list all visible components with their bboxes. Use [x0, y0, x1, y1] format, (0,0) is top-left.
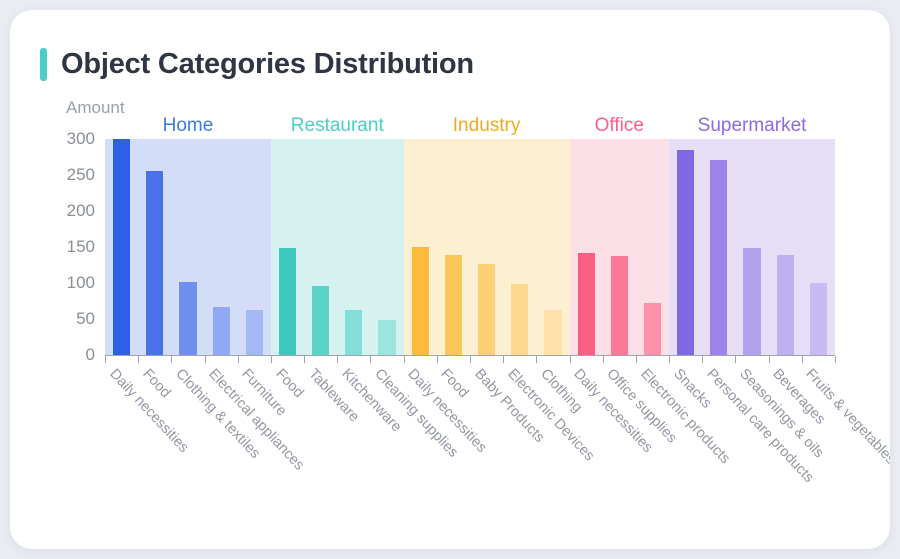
x-axis-tick-mark [404, 356, 405, 363]
bar[interactable] [777, 255, 794, 355]
x-axis-tick-mark [603, 356, 604, 363]
x-axis-tick-mark [536, 356, 537, 363]
group-label-office: Office [570, 115, 670, 137]
y-axis-tick-mark [105, 211, 111, 212]
x-axis-tick-mark [636, 356, 637, 363]
bar[interactable] [146, 171, 163, 355]
y-axis-tick-mark [105, 175, 111, 176]
x-axis-tick-mark [503, 356, 504, 363]
bar[interactable] [412, 247, 429, 355]
bar[interactable] [378, 320, 395, 355]
bar[interactable] [611, 256, 628, 355]
bar[interactable] [213, 307, 230, 355]
bar[interactable] [246, 310, 263, 355]
y-axis-tick-label: 200 [49, 201, 95, 221]
x-axis-tick-mark [669, 356, 670, 363]
x-axis-tick-mark [702, 356, 703, 363]
bar[interactable] [478, 264, 495, 355]
bar[interactable] [113, 139, 130, 355]
y-axis-tick-mark [105, 283, 111, 284]
x-axis-tick-mark [337, 356, 338, 363]
y-axis-tick-mark [105, 139, 111, 140]
bar[interactable] [710, 160, 727, 355]
group-label-supermarket: Supermarket [669, 115, 835, 137]
y-axis-tick-label: 150 [49, 237, 95, 257]
bar[interactable] [677, 150, 694, 355]
bar[interactable] [810, 283, 827, 355]
y-axis-tick-mark [105, 319, 111, 320]
y-axis-ticks: 050100150200250300 [49, 139, 95, 355]
plot-area [105, 139, 835, 355]
x-axis-tick-mark [735, 356, 736, 363]
x-axis-tick-mark [271, 356, 272, 363]
y-axis-tick-label: 0 [49, 345, 95, 365]
y-axis-tick-mark [105, 247, 111, 248]
x-axis-tick-mark [802, 356, 803, 363]
chart-card: Object Categories Distribution Amount 05… [10, 10, 890, 549]
bar[interactable] [279, 248, 296, 355]
x-axis-tick-mark [370, 356, 371, 363]
y-axis-tick-label: 300 [49, 129, 95, 149]
y-axis-tick-label: 50 [49, 309, 95, 329]
x-axis-tick-mark [570, 356, 571, 363]
x-axis-tick-mark [437, 356, 438, 363]
x-axis-tick-mark [304, 356, 305, 363]
bar[interactable] [445, 255, 462, 355]
bar[interactable] [345, 310, 362, 355]
page-title: Object Categories Distribution [61, 48, 474, 81]
bar[interactable] [743, 248, 760, 355]
x-axis-tick-mark [205, 356, 206, 363]
group-label-industry: Industry [404, 115, 570, 137]
y-axis-tick-label: 100 [49, 273, 95, 293]
group-label-home: Home [105, 115, 271, 137]
bar[interactable] [644, 303, 661, 355]
bar[interactable] [511, 284, 528, 355]
x-axis-tick-mark [835, 356, 836, 363]
bar[interactable] [312, 286, 329, 355]
x-axis-tick-mark [171, 356, 172, 363]
chart-header: Object Categories Distribution [40, 48, 474, 81]
x-axis-tick-mark [105, 356, 106, 363]
group-label-restaurant: Restaurant [271, 115, 404, 137]
y-axis-tick-label: 250 [49, 165, 95, 185]
bar[interactable] [544, 310, 561, 355]
x-axis-tick-mark [769, 356, 770, 363]
x-axis-tick-mark [138, 356, 139, 363]
bar[interactable] [179, 282, 196, 355]
x-axis-tick-mark [470, 356, 471, 363]
title-accent-bar [40, 48, 47, 81]
bar[interactable] [578, 253, 595, 355]
x-axis-tick-mark [238, 356, 239, 363]
